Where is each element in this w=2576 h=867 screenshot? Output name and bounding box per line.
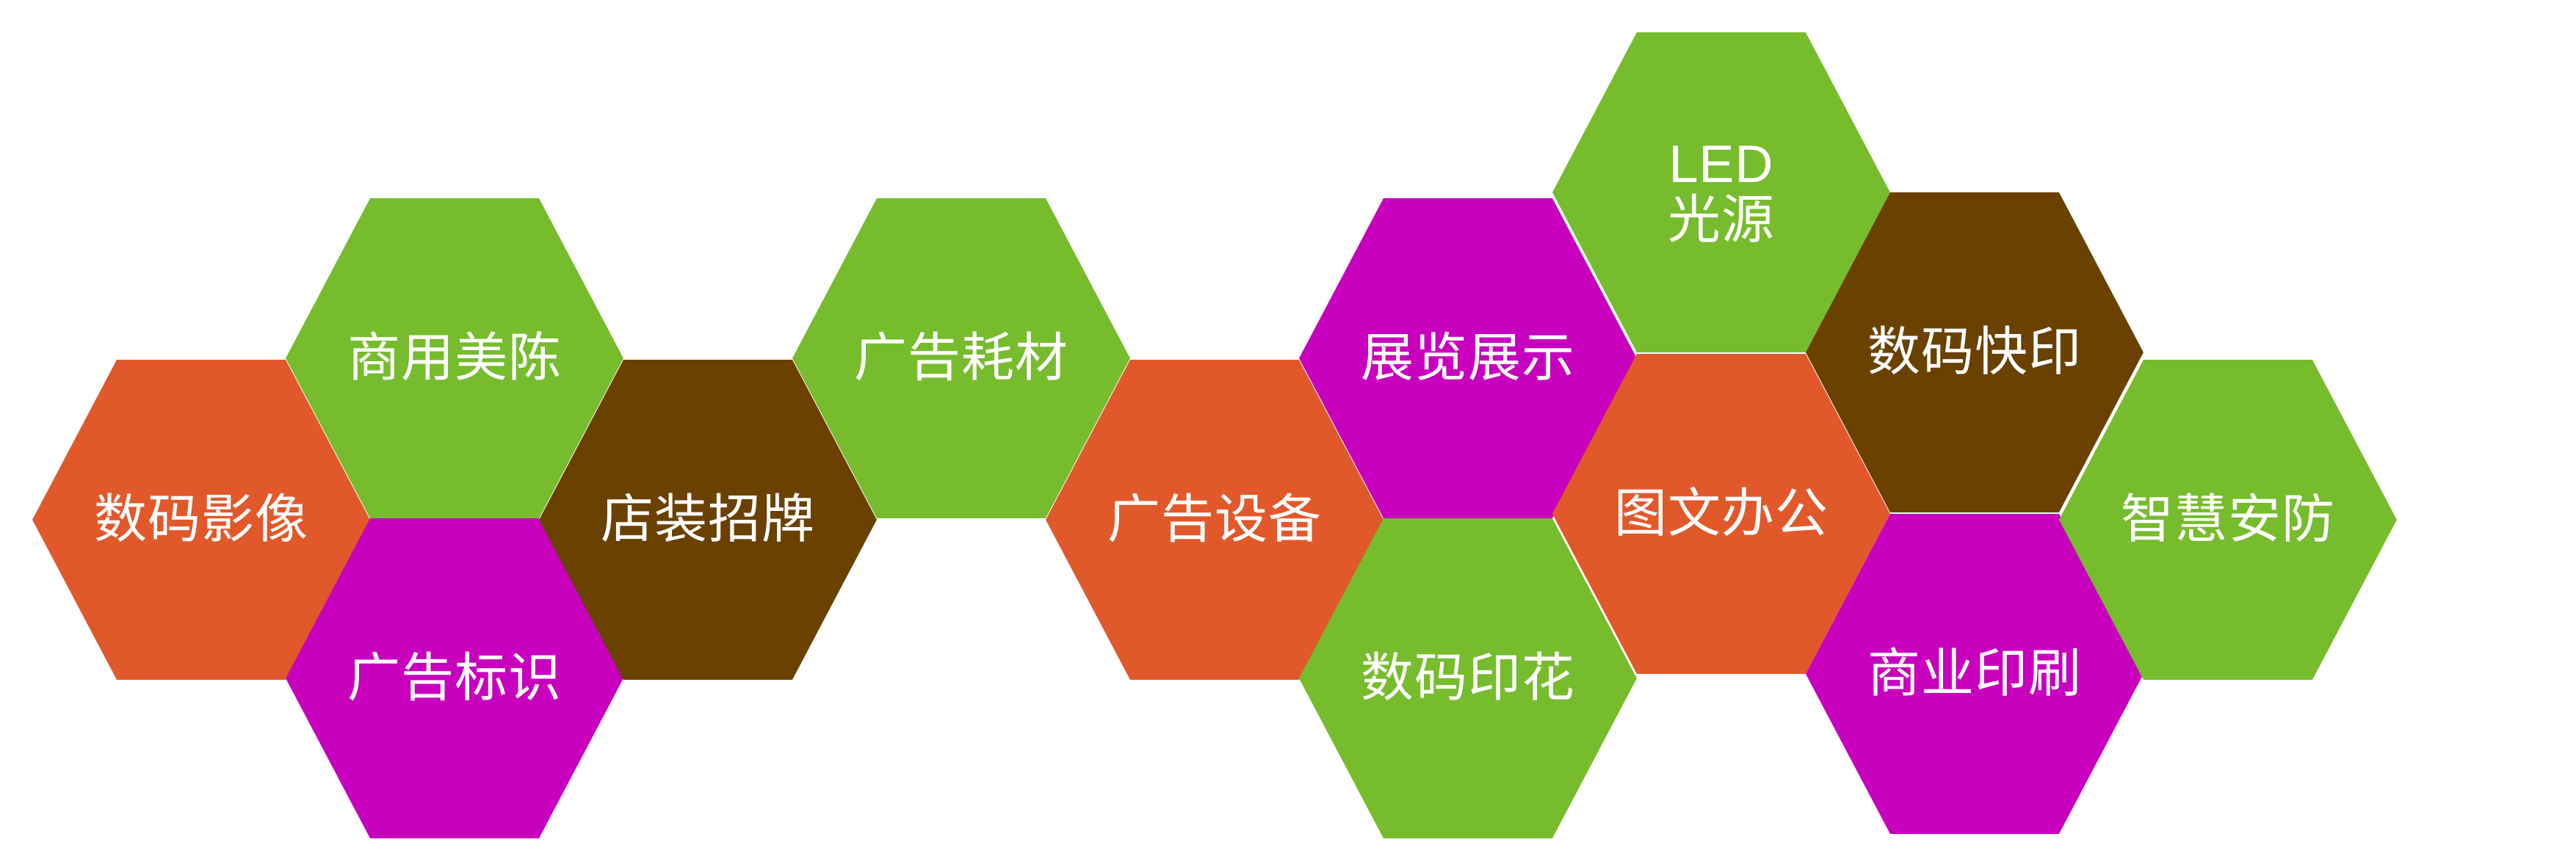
- hex-label-digital-printing-textile: 数码印花: [1356, 650, 1580, 706]
- honeycomb-diagram: 数码影像商用美陈广告标识店装招牌广告耗材广告设备展览展示数码印花LED 光源图文…: [0, 0, 2576, 867]
- hex-label-smart-security: 智慧安防: [2116, 492, 2340, 548]
- hex-label-store-signboard: 店装招牌: [596, 492, 820, 548]
- hex-label-led-light-source: LED 光源: [1663, 137, 1779, 249]
- hex-label-advertising-signage: 广告标识: [343, 650, 566, 706]
- hex-label-graphic-office: 图文办公: [1610, 486, 1833, 542]
- hex-label-advertising-consumables: 广告耗材: [850, 330, 1073, 386]
- hex-label-commercial-display: 商用美陈: [343, 330, 566, 386]
- hex-label-commercial-printing: 商业印刷: [1863, 646, 2086, 702]
- hex-label-exhibition-display: 展览展示: [1356, 330, 1580, 386]
- hex-label-digital-quick-print: 数码快印: [1863, 324, 2086, 380]
- hex-label-digital-imaging: 数码影像: [90, 492, 313, 548]
- hex-label-advertising-equipment: 广告设备: [1103, 492, 1326, 548]
